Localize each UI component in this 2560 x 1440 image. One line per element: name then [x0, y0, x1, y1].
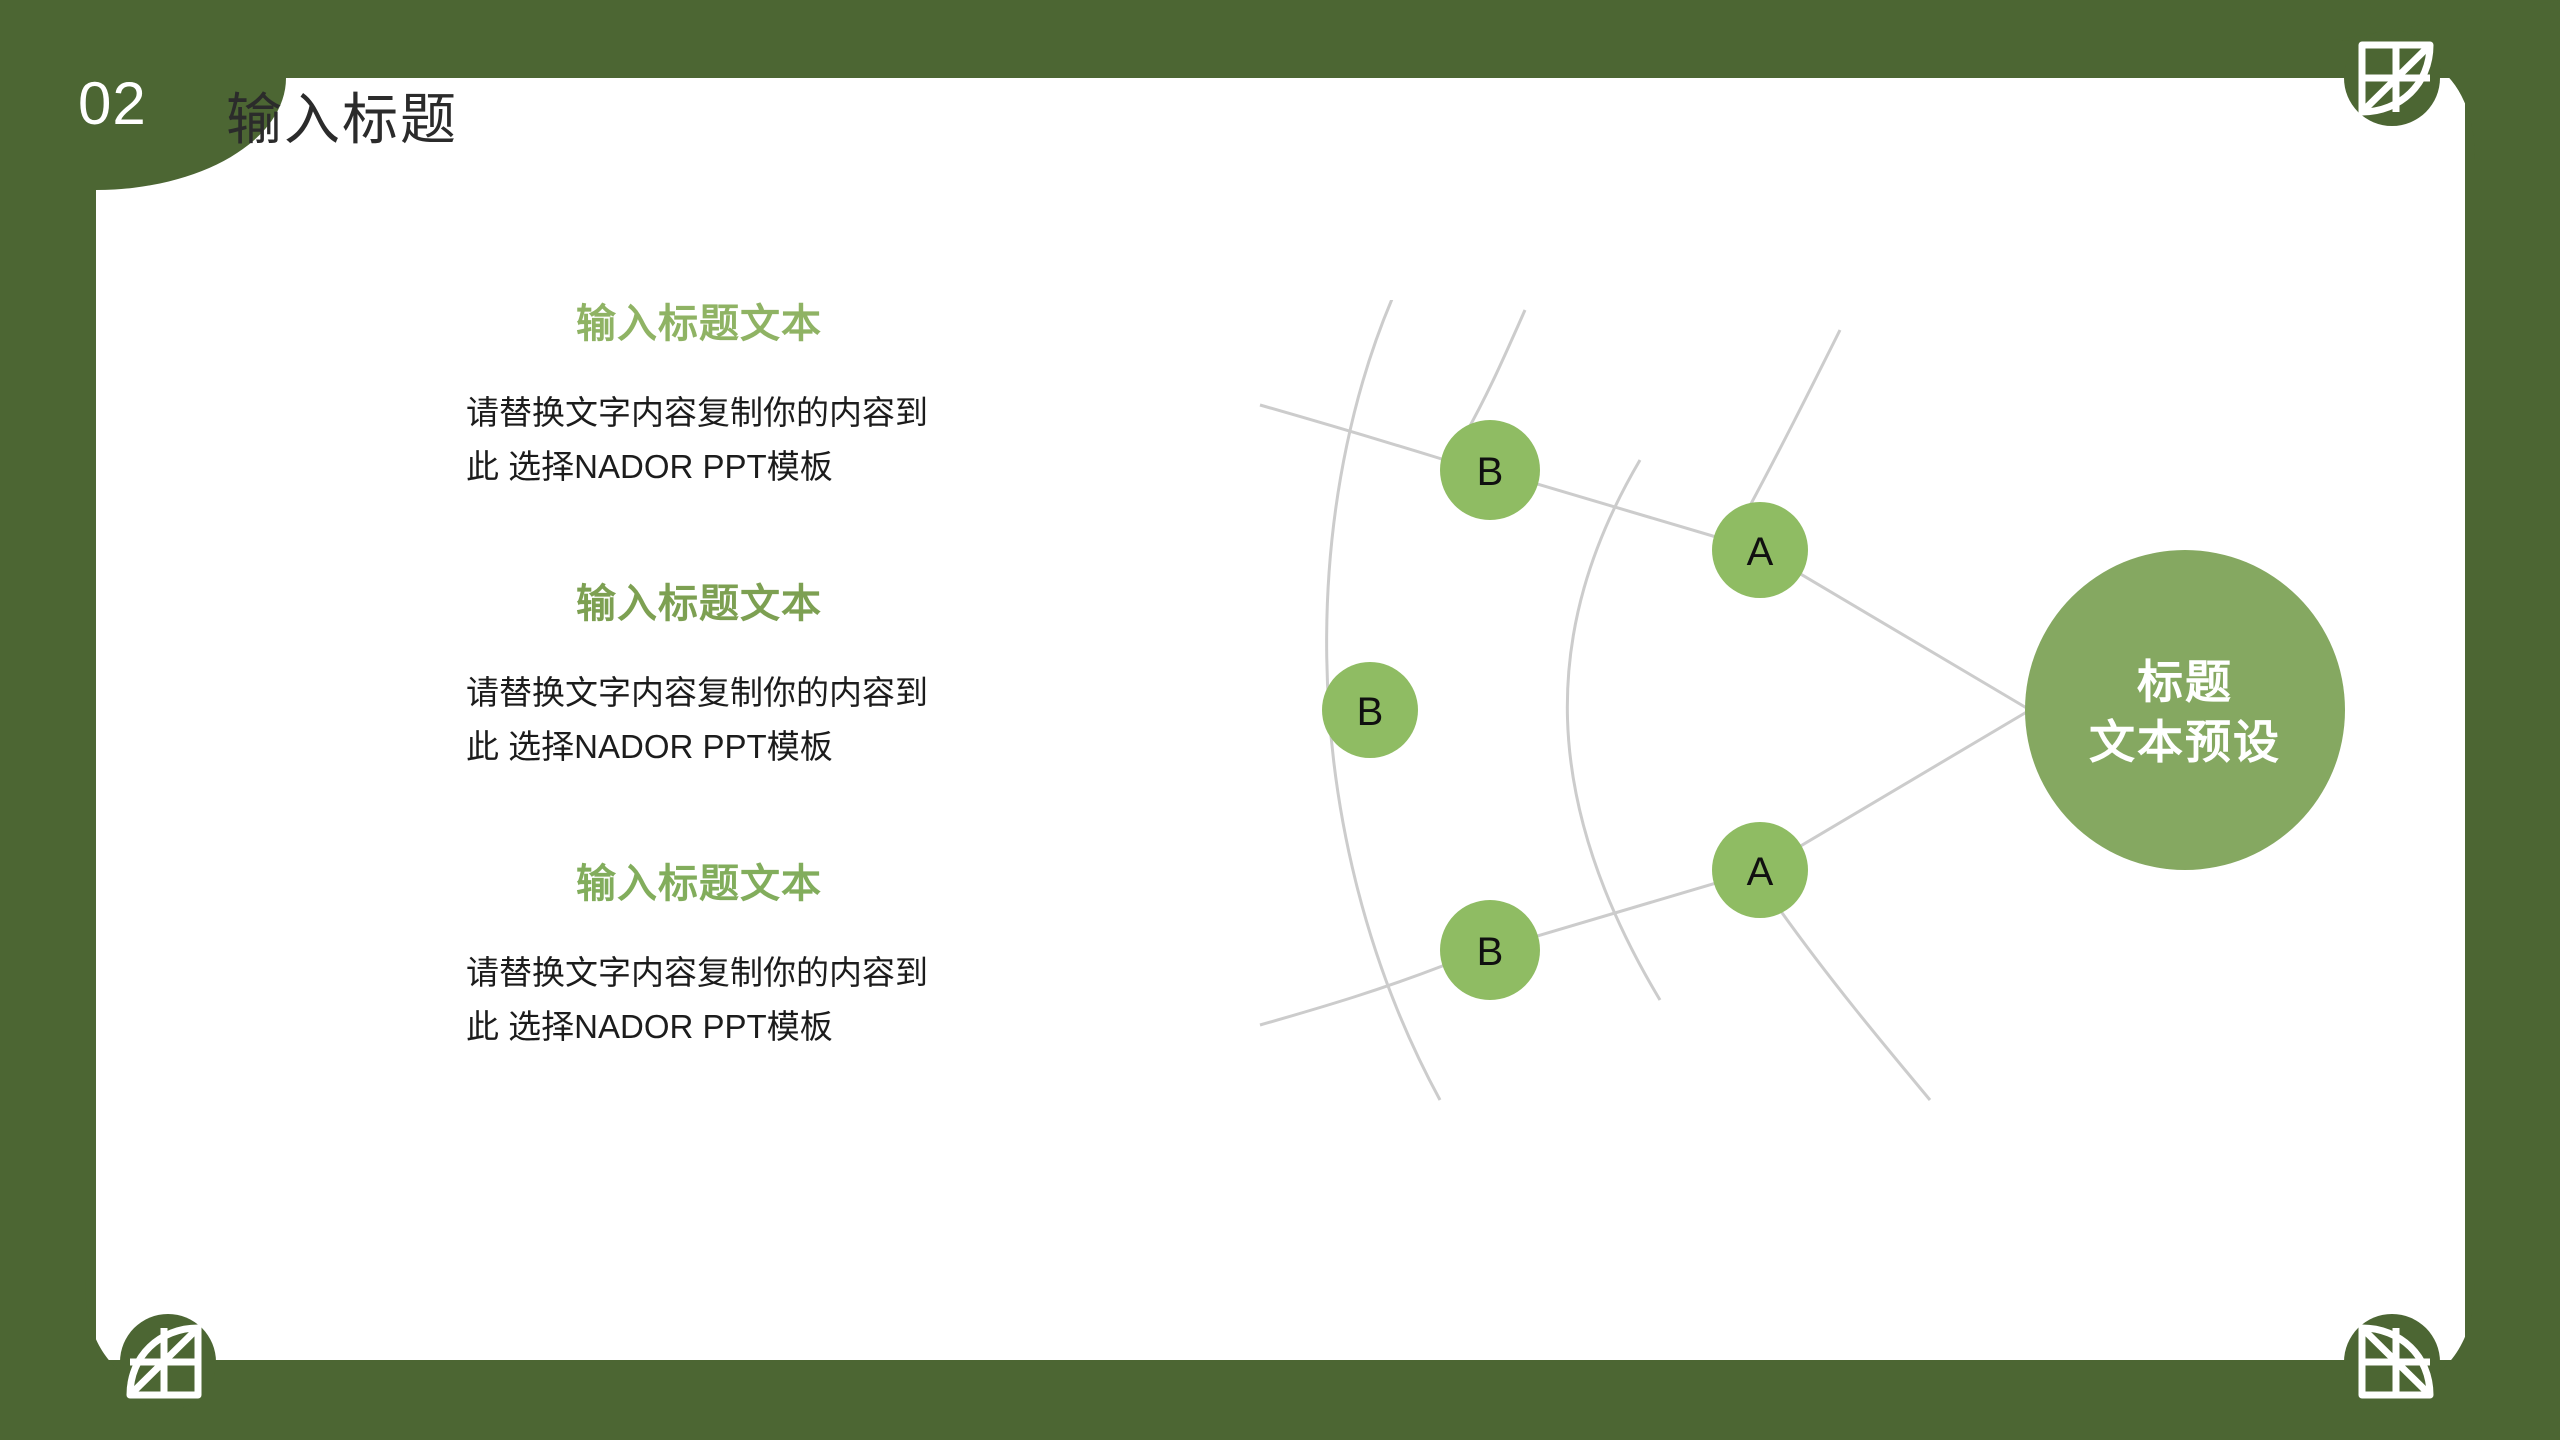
- text-block-2-body-line1: 请替换文字内容复制你的内容到: [466, 674, 928, 711]
- stub-a-bottom-down: [1780, 910, 1930, 1100]
- arc-inner: [1567, 460, 1660, 1000]
- node-b-top-label: B: [1477, 450, 1504, 494]
- radial-node-diagram: 标题 文本预设 A A B B: [1240, 300, 2360, 1120]
- page-title: 输入标题: [226, 88, 458, 152]
- stub-b-top-left: [1260, 405, 1445, 460]
- text-block-1-body-line1: 请替换文字内容复制你的内容到: [466, 394, 928, 431]
- node-a-bottom-label: A: [1747, 850, 1774, 894]
- node-b-bottom[interactable]: B: [1440, 900, 1540, 1000]
- stub-b-bottom-left: [1260, 965, 1445, 1025]
- text-block-2-body: 请替换文字内容复制你的内容到 此 选择NADOR PPT模板: [466, 666, 1026, 774]
- hub-label-line2: 文本预设: [2089, 716, 2281, 768]
- node-a-top-label: A: [1747, 530, 1774, 574]
- corner-decoration-bottom-right: [2300, 1280, 2560, 1440]
- node-b-middle[interactable]: B: [1322, 662, 1418, 758]
- slide: 02 输入标题 输入标题文本 请替换文字内容复制你的内容到 此 选择NADOR …: [0, 0, 2560, 1440]
- text-block-3-heading: 输入标题文本: [466, 860, 1166, 908]
- stub-a-top-up: [1745, 330, 1840, 515]
- text-block-3: 输入标题文本 请替换文字内容复制你的内容到 此 选择NADOR PPT模板: [466, 860, 1166, 1054]
- node-b-top[interactable]: B: [1440, 420, 1540, 520]
- text-block-2-heading: 输入标题文本: [466, 580, 1166, 628]
- corner-decoration-bottom-left: [0, 1280, 260, 1440]
- text-block-1-heading: 输入标题文本: [466, 300, 1166, 348]
- text-block-2-body-line2: 此 选择NADOR PPT模板: [466, 728, 833, 765]
- text-block-1-body: 请替换文字内容复制你的内容到 此 选择NADOR PPT模板: [466, 386, 1026, 494]
- text-block-2: 输入标题文本 请替换文字内容复制你的内容到 此 选择NADOR PPT模板: [466, 580, 1166, 774]
- node-b-bottom-label: B: [1477, 930, 1504, 974]
- text-block-3-body-line2: 此 选择NADOR PPT模板: [466, 1008, 833, 1045]
- text-block-1: 输入标题文本 请替换文字内容复制你的内容到 此 选择NADOR PPT模板: [466, 300, 1166, 494]
- hub-node[interactable]: 标题 文本预设: [2025, 550, 2345, 870]
- text-block-1-body-line2: 此 选择NADOR PPT模板: [466, 448, 833, 485]
- text-block-3-body: 请替换文字内容复制你的内容到 此 选择NADOR PPT模板: [466, 946, 1026, 1054]
- text-column: 输入标题文本 请替换文字内容复制你的内容到 此 选择NADOR PPT模板 输入…: [466, 300, 1166, 1054]
- hub-circle: [2025, 550, 2345, 870]
- node-a-bottom[interactable]: A: [1712, 822, 1808, 918]
- hub-label-line1: 标题: [2137, 656, 2233, 708]
- text-block-3-body-line1: 请替换文字内容复制你的内容到: [466, 954, 928, 991]
- section-number-badge: 02: [78, 74, 147, 134]
- corner-decoration-top-right: [2300, 0, 2560, 160]
- stub-b-top-up: [1465, 310, 1525, 435]
- node-a-top[interactable]: A: [1712, 502, 1808, 598]
- node-b-middle-label: B: [1357, 690, 1384, 734]
